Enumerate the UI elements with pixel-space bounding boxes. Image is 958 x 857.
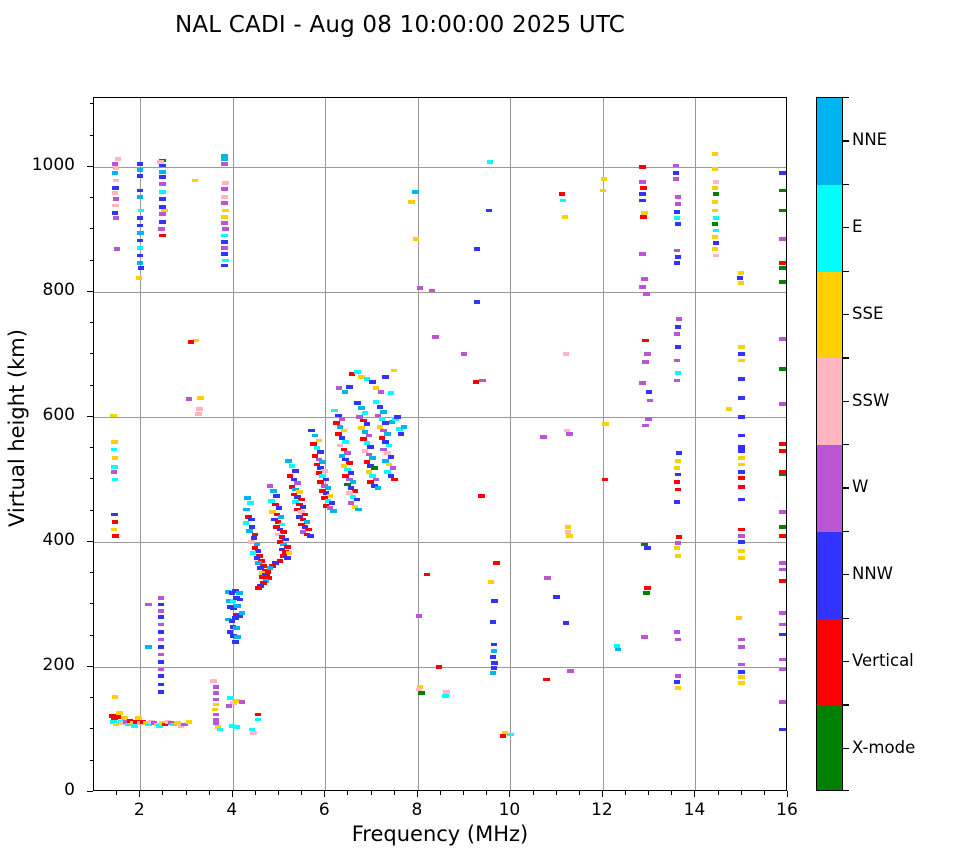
colorbar-boundary-tick [843,790,849,791]
data-point [645,417,651,421]
data-point [644,586,650,590]
data-point [738,498,744,502]
data-point [113,216,119,220]
data-point [779,402,785,406]
data-point [675,222,681,226]
data-point [500,734,506,738]
x-tick-major [787,791,788,797]
colorbar-segment-ssw [817,358,842,445]
y-tick-minor [90,478,94,479]
colorbar-boundary-tick [843,184,849,185]
data-point [367,445,373,449]
data-point [674,466,680,470]
data-point [364,422,370,426]
x-tick-label: 8 [387,800,447,820]
data-point [675,674,681,678]
y-tick-minor [90,728,94,729]
data-point [712,222,718,226]
data-point [159,220,165,224]
data-point [285,459,291,463]
data-point [137,239,143,243]
data-point [601,177,607,181]
data-point [371,466,377,470]
colorbar-label-nnw: NNW [852,566,893,583]
data-point [112,204,118,208]
data-point [674,480,680,484]
data-point [779,209,785,213]
x-tick-label: 6 [294,800,354,820]
data-point [111,470,117,474]
x-tick-major [324,791,325,797]
data-point [354,401,360,405]
data-point [234,604,240,608]
data-point [342,390,348,394]
data-point [738,638,744,642]
data-point [158,683,164,687]
data-point [161,209,167,213]
data-point [436,665,442,669]
x-tick-label: 12 [572,800,632,820]
colorbar-label-sse: SSE [852,306,883,323]
data-point [232,616,238,620]
data-point [369,456,375,460]
data-point [712,235,718,239]
data-point [300,505,306,509]
x-tick-minor [371,791,372,795]
data-point [278,515,284,519]
data-point [137,174,143,178]
data-point [250,551,256,555]
data-point [408,200,414,204]
data-point [779,442,785,446]
data-point [222,181,228,185]
data-point [713,216,719,220]
data-point [341,429,347,433]
data-point [674,261,680,265]
data-point [267,484,273,488]
data-point [779,171,785,175]
data-point [386,444,392,448]
data-point [779,261,785,265]
y-tick-minor [90,697,94,698]
data-point [354,498,360,502]
y-tick-minor [90,197,94,198]
data-point [675,371,681,375]
data-point [615,648,621,652]
data-point [398,432,404,436]
x-tick-minor [116,791,117,795]
data-point [158,645,164,649]
x-tick-minor [278,791,279,795]
data-point [559,192,565,196]
data-point [244,496,250,500]
x-tick-major [417,791,418,797]
colorbar-boundary-tick [843,357,849,358]
data-point [779,367,785,371]
data-point [221,215,227,219]
data-point [640,215,646,219]
colorbar-segment-w [817,445,842,532]
data-point [373,478,379,482]
data-point [738,377,744,381]
data-point [221,187,227,191]
y-tick-minor [90,103,94,104]
colorbar-label-ssw: SSW [852,393,889,410]
data-point [112,478,118,482]
data-point [137,261,143,265]
data-point [221,195,227,199]
data-point [779,561,785,565]
data-point [738,434,744,438]
data-point [675,345,681,349]
data-point [158,690,164,694]
data-point [346,385,352,389]
data-point [642,339,648,343]
data-point [307,534,313,538]
data-point [298,498,304,502]
data-point [600,189,606,193]
data-point [217,728,223,732]
data-point [643,591,649,595]
data-point [111,440,117,444]
y-tick-minor [90,228,94,229]
data-point [738,540,744,544]
data-point [675,554,681,558]
data-point [137,231,143,235]
data-point [479,379,485,383]
data-point [675,325,681,329]
data-point [566,432,572,436]
data-point [111,528,117,532]
data-point [222,227,228,231]
data-point [643,292,649,296]
data-point [116,711,122,715]
data-point [346,461,352,465]
data-point [738,345,744,349]
data-point [113,166,119,170]
x-tick-label: 10 [479,800,539,820]
data-point [112,186,118,190]
data-point [563,352,569,356]
data-point [646,390,652,394]
data-point [713,241,719,245]
y-tick-minor [90,572,94,573]
data-point [354,370,360,374]
data-point [738,670,744,674]
data-point [738,556,744,560]
data-point [675,195,681,199]
x-tick-minor [486,791,487,795]
data-point [138,209,144,213]
data-point [221,246,227,250]
data-point [221,252,227,256]
data-point [738,485,744,489]
data-point [112,162,118,166]
data-point [325,486,331,490]
data-point [327,494,333,498]
colorbar-segment-sse [817,272,842,359]
data-point [738,675,744,679]
data-point [210,679,216,683]
data-point [159,234,165,238]
data-point [738,534,744,538]
x-tick-minor [301,791,302,795]
data-point [110,414,116,418]
data-point [642,360,648,364]
data-point [713,254,719,258]
data-point [112,171,118,175]
x-tick-minor [463,791,464,795]
y-tick-minor [90,760,94,761]
colorbar-center-tick [843,401,849,402]
data-point [319,460,325,464]
data-point [384,432,390,436]
data-point [159,164,165,168]
data-point [111,448,117,452]
colorbar-center-tick [843,227,849,228]
data-point [491,599,497,603]
data-point [158,674,164,678]
data-point [227,696,233,700]
data-point [294,481,300,485]
data-point [779,525,785,529]
colorbar-segment-nne [817,98,842,185]
data-point [270,489,276,493]
data-point [675,459,681,463]
data-point [221,201,227,205]
y-tick-minor [90,260,94,261]
data-point [158,609,164,613]
y-tick-major [87,416,93,417]
data-point [602,422,608,426]
data-point [566,534,572,538]
data-point [222,259,228,263]
data-point [373,400,379,404]
data-point [553,595,559,599]
data-point [159,190,165,194]
data-point [302,513,308,517]
data-point [378,390,384,394]
data-point [284,556,290,560]
data-point [507,733,513,737]
data-point [488,580,494,584]
data-point [779,568,785,572]
colorbar-segment-nnw [817,532,842,619]
data-point [239,611,245,615]
y-tick-minor [90,135,94,136]
data-point [486,209,492,213]
data-point [737,276,743,280]
colorbar-label-vertical: Vertical [852,653,914,670]
data-point [674,359,680,363]
x-tick-minor [162,791,163,795]
data-point [738,463,744,467]
x-axis-label: Frequency (MHz) [93,822,787,846]
data-point [234,635,240,639]
data-point [308,429,314,433]
data-point [738,449,744,453]
data-point [255,586,261,590]
data-point [259,575,265,579]
data-point [738,352,744,356]
data-point [474,247,480,251]
data-point [232,640,238,644]
data-point [369,380,375,384]
data-point [137,162,143,166]
data-point [390,466,396,470]
data-point [490,620,496,624]
data-point [639,192,645,196]
x-tick-minor [764,791,765,795]
data-point [779,280,785,284]
ionogram-figure: NAL CADI - Aug 08 10:00:00 2025 UTC 2468… [0,0,958,857]
data-point [186,397,192,401]
colorbar-center-tick [843,661,849,662]
data-point [562,215,568,219]
data-point [292,469,298,473]
data-point [305,528,311,532]
data-point [111,513,117,517]
data-point [412,190,418,194]
data-point [675,488,681,492]
data-point [388,391,394,395]
data-point [738,645,744,649]
data-point [641,277,647,281]
data-point [113,197,119,201]
data-point [675,473,681,477]
data-point [382,375,388,379]
x-tick-minor [625,791,626,795]
data-point [491,643,497,647]
data-point [712,247,718,251]
data-point [312,434,318,438]
data-point [639,165,645,169]
data-point [779,579,785,583]
x-tick-minor [671,791,672,795]
data-point [112,191,118,195]
data-point [674,216,680,220]
data-point [213,698,219,702]
data-point [675,255,681,259]
data-point [114,247,120,251]
y-tick-major [87,791,93,792]
data-point [243,508,249,512]
colorbar-labels: NNEESSESSWWNNWVerticalX-mode [852,97,942,791]
x-tick-label: 4 [202,800,262,820]
data-point [674,680,680,684]
data-point [674,332,680,336]
x-tick-label: 16 [757,800,817,820]
x-tick-major [602,791,603,797]
y-tick-major [87,166,93,167]
data-point [112,456,118,460]
colorbar-boundary-tick [843,271,849,272]
data-point [342,440,348,444]
x-tick-minor [741,791,742,795]
data-point [675,541,681,545]
data-point [113,179,119,183]
data-point [779,449,785,453]
data-point [644,546,650,550]
data-point [236,591,242,595]
data-point [316,439,322,443]
data-point [159,175,165,179]
data-point [779,623,785,627]
data-point [137,216,143,220]
data-point [779,534,785,538]
data-point [195,412,201,416]
y-tick-minor [90,510,94,511]
data-point [226,704,232,708]
data-point [640,186,646,190]
data-point [158,668,164,672]
x-axis-ticks: 246810121416 [93,791,787,799]
data-point [380,410,386,414]
data-point [213,691,219,695]
data-point [137,168,143,172]
y-tick-minor [90,447,94,448]
data-point [137,195,143,199]
data-point [429,289,435,293]
data-point [158,596,164,600]
colorbar-boundary-tick [843,704,849,705]
data-point [738,281,744,285]
data-point [738,528,744,532]
data-point [339,417,345,421]
data-point [350,480,356,484]
data-point [675,202,681,206]
data-point [321,469,327,473]
colorbar-boundary-tick [843,97,849,98]
data-point [674,210,680,214]
data-point [639,381,645,385]
data-point [279,523,285,527]
data-point [188,340,194,344]
data-point [366,434,372,438]
x-tick-minor [186,791,187,795]
data-point [779,510,785,514]
data-point [642,424,648,428]
colorbar-segment-x-mode [817,705,842,791]
data-point [239,700,245,704]
y-tick-minor [90,603,94,604]
data-point [493,561,499,565]
data-point [738,476,744,480]
data-point [674,249,680,253]
data-point [388,455,394,459]
data-point [286,551,292,555]
x-tick-label: 14 [664,800,724,820]
data-point [280,530,286,534]
data-point [779,633,785,637]
data-point [112,211,118,215]
data-point [158,638,164,642]
data-point [221,157,227,161]
data-point [779,668,785,672]
y-tick-major [87,666,93,667]
data-point [352,489,358,493]
data-point [289,464,295,468]
data-point [491,666,497,670]
data-point [779,189,785,193]
data-point [248,518,254,522]
data-point [282,538,288,542]
data-point [779,473,785,477]
data-point [779,611,785,615]
data-point [157,160,163,164]
x-tick-minor [579,791,580,795]
y-tick-major [87,541,93,542]
